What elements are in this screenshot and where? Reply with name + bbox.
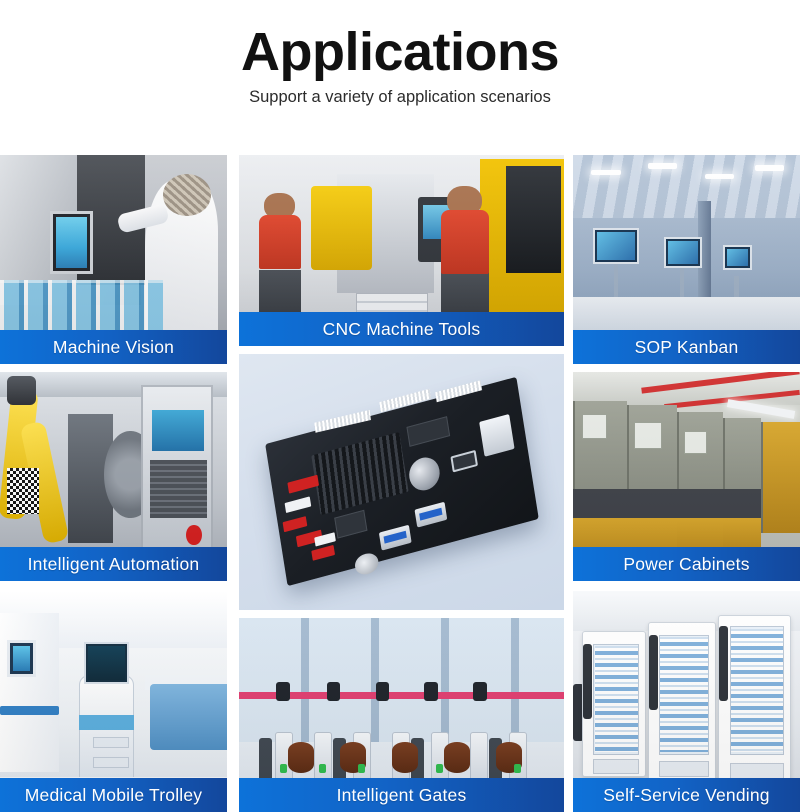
application-label-sop-kanban: SOP Kanban [573, 330, 800, 364]
application-label-intelligent-gates: Intelligent Gates [239, 778, 564, 812]
application-label-self-service-vending: Self-Service Vending [573, 778, 800, 812]
product-showcase-panel[interactable] [239, 354, 564, 610]
applications-page: Applications Support a variety of applic… [0, 0, 800, 812]
application-label-medical-mobile-trolley: Medical Mobile Trolley [0, 778, 227, 812]
application-card-medical-mobile-trolley[interactable]: Medical Mobile Trolley [0, 591, 227, 812]
application-card-sop-kanban[interactable]: SOP Kanban [573, 155, 800, 364]
page-title: Applications [0, 22, 800, 82]
application-card-cnc-machine-tools[interactable]: CNC Machine Tools [239, 155, 564, 346]
application-label-machine-vision: Machine Vision [0, 330, 227, 364]
application-card-self-service-vending[interactable]: Self-Service Vending [573, 591, 800, 812]
applications-grid: Machine Vision CNC Machine Tools [0, 155, 800, 812]
application-label-power-cabinets: Power Cabinets [573, 547, 800, 581]
application-card-intelligent-gates[interactable]: Intelligent Gates [239, 618, 564, 812]
application-card-power-cabinets[interactable]: Power Cabinets [573, 372, 800, 581]
application-label-cnc-machine-tools: CNC Machine Tools [239, 312, 564, 346]
product-board-image [239, 354, 564, 610]
page-header: Applications Support a variety of applic… [0, 0, 800, 107]
page-subtitle: Support a variety of application scenari… [0, 88, 800, 107]
single-board-computer [265, 377, 539, 587]
application-label-intelligent-automation: Intelligent Automation [0, 547, 227, 581]
application-card-intelligent-automation[interactable]: Intelligent Automation [0, 372, 227, 581]
application-card-machine-vision[interactable]: Machine Vision [0, 155, 227, 364]
